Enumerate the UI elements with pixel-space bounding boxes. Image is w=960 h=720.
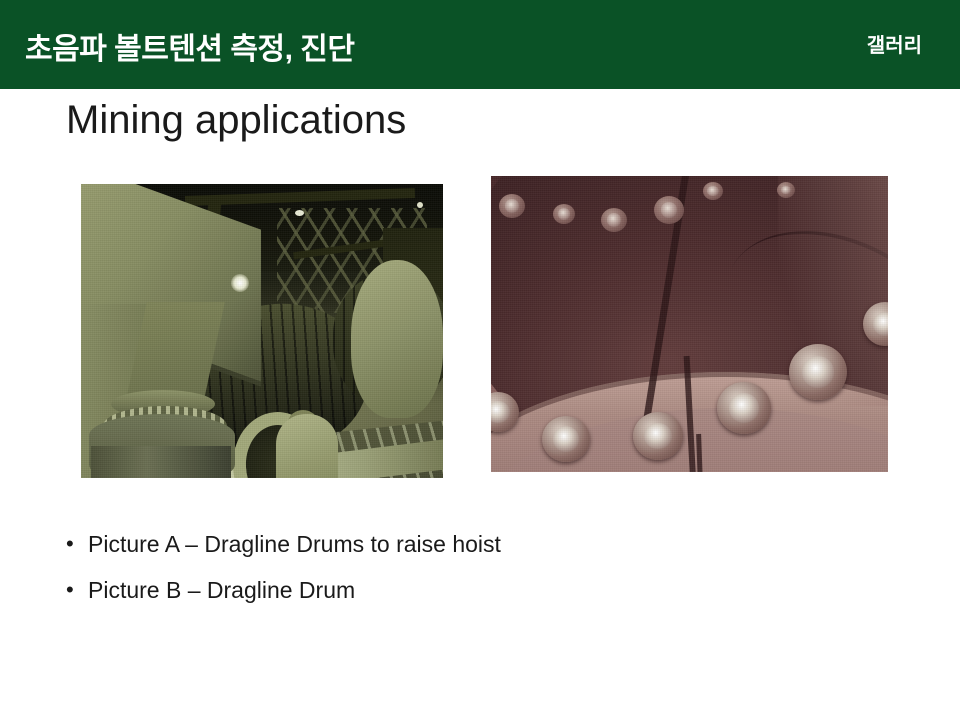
bullet-marker: • [66, 576, 88, 604]
bullet-list: • Picture A – Dragline Drums to raise ho… [66, 530, 846, 622]
header-title: 초음파 볼트텐션 측정, 진단 [25, 24, 354, 68]
picture-a-image [81, 184, 443, 478]
bullet-text: Picture B – Dragline Drum [88, 576, 355, 604]
picture-b-bolt-large-4 [717, 382, 771, 434]
picture-b-bolt-small-6 [777, 182, 795, 198]
picture-b-bolt-small-4 [654, 196, 684, 224]
picture-a-tank-body [91, 446, 231, 478]
picture-a-worker [276, 414, 338, 478]
picture-b-bolt-large-5 [789, 344, 847, 400]
header-band: 초음파 볼트텐션 측정, 진단 갤러리 [0, 0, 960, 89]
picture-a-drum-end-cap [351, 260, 443, 418]
picture-b-bolt-large-2 [542, 416, 590, 462]
bullet-text: Picture A – Dragline Drums to raise hois… [88, 530, 501, 558]
picture-a-lamp [231, 274, 249, 292]
bullet-marker: • [66, 530, 88, 558]
picture-b-bolt-small-1 [499, 194, 525, 218]
picture-b-bolt-small-3 [601, 208, 627, 232]
picture-b-image [491, 176, 888, 472]
header-gallery-tag: 갤러리 [867, 29, 922, 58]
slide: 초음파 볼트텐션 측정, 진단 갤러리 Mining applications [0, 0, 960, 720]
list-item: • Picture A – Dragline Drums to raise ho… [66, 530, 846, 558]
picture-b-bolt-small-5 [703, 182, 723, 200]
page-title: Mining applications [66, 98, 406, 143]
picture-b-bolt-large-3 [633, 412, 683, 460]
picture-b-bolt-small-2 [553, 204, 575, 224]
picture-a-highlight-2 [417, 202, 423, 208]
list-item: • Picture B – Dragline Drum [66, 576, 846, 604]
picture-a-highlight-1 [295, 210, 304, 216]
